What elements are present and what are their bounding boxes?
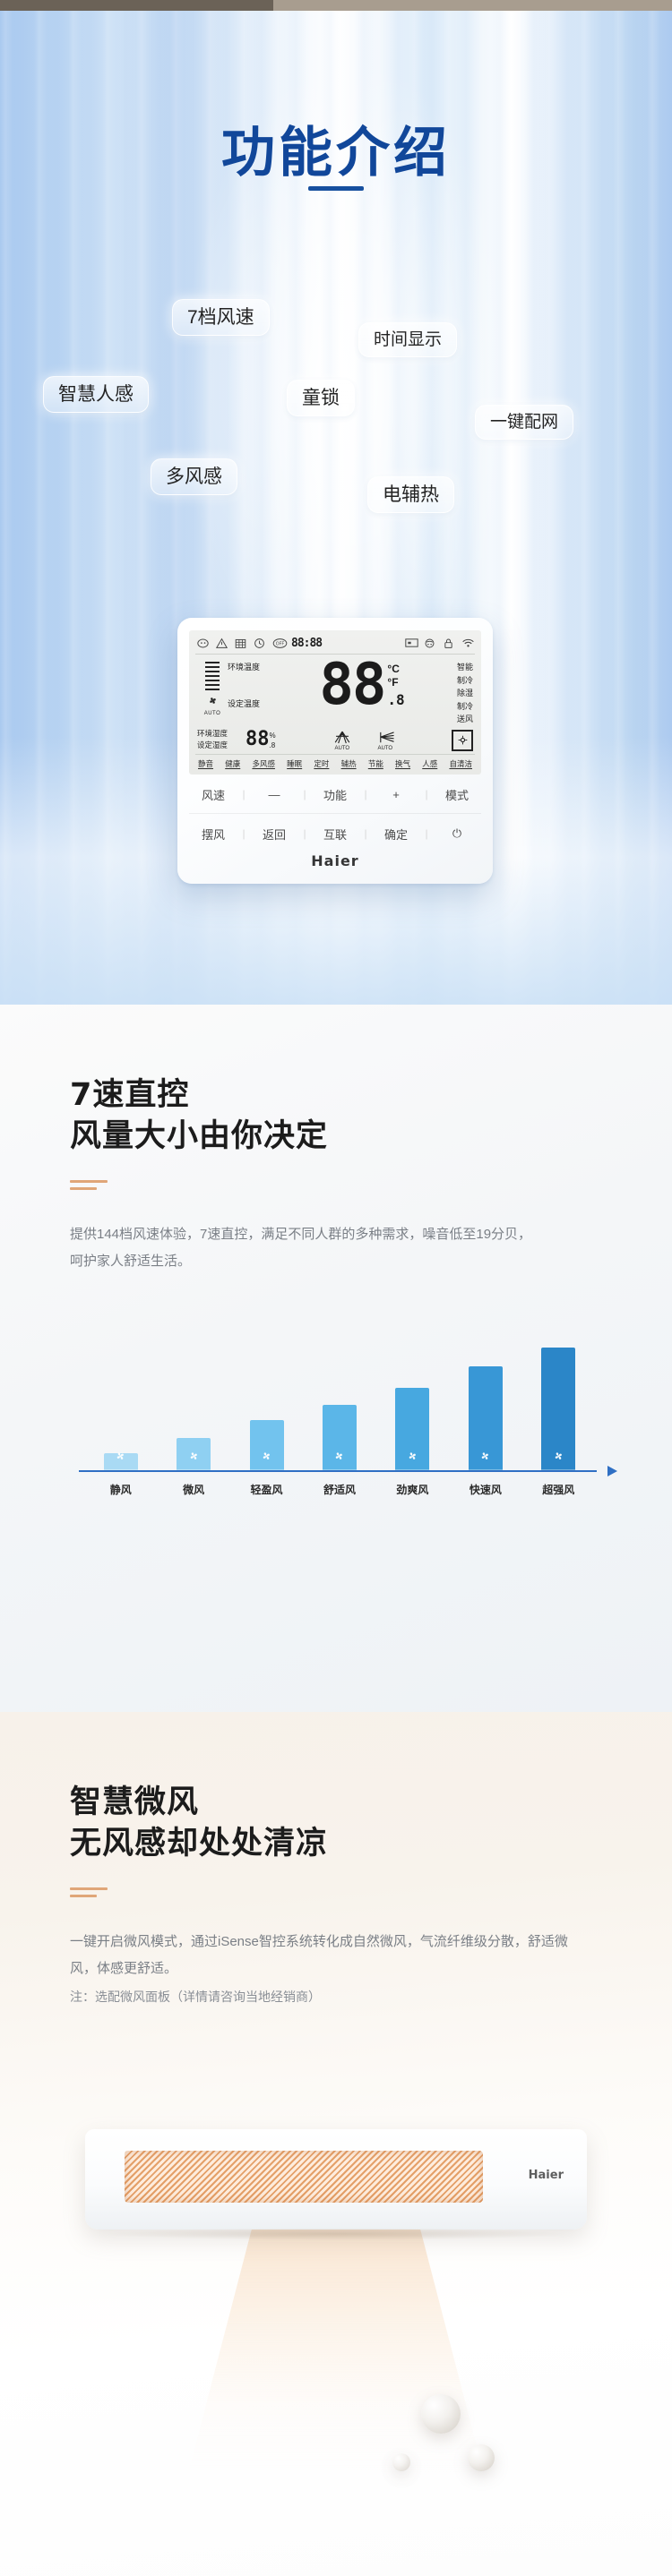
lcd-temperature-readout: 88 °C °F .8 [287,659,437,726]
humidity-value: 88 [246,728,270,750]
mode-item: 送风 [437,713,473,726]
set-temp-label: 设定温度 [228,697,287,709]
feature-tag[interactable]: 电辅热 [367,476,454,513]
temperature-value: 88 [319,659,384,712]
button-fan-speed[interactable]: 风速 [198,786,228,803]
divider: | [425,788,427,800]
lcd-function-label: 定时 [314,758,329,769]
horizontal-swing-icon: AUTO [374,730,397,751]
divider: | [364,788,366,800]
chart-bar [104,1453,138,1470]
temperature-decimal: .8 [387,691,404,709]
title-underline [308,186,364,191]
section2-title-line1: 7速直控 [70,1077,189,1113]
chart-bars [84,1336,595,1470]
chart-bar-column [449,1366,521,1470]
fan-icon [552,1450,565,1466]
chart-bar-column [157,1438,229,1470]
button-mode[interactable]: 模式 [442,786,472,803]
brand-logo: Haier [189,852,481,873]
chart-bar [177,1438,211,1470]
accent-line [70,1180,108,1183]
thermostat-device: OFF 88:88 [177,618,493,884]
fan-bar [205,662,220,663]
fan-icon [332,1450,346,1466]
horizontal-swing-auto: AUTO [378,746,393,751]
divider: | [242,827,245,840]
vertical-swing-icon: AUTO [331,730,354,751]
fan-speed-section: 7速直控 风量大小由你决定 提供144档风速体验，7速直控，满足不同人群的多种需… [0,1005,672,1712]
humidity-decimal: .8 [270,740,276,750]
lcd-mode-list: 智能 制冷 除湿 制冷 送风 [437,659,473,726]
card-icon [405,638,417,649]
section2-title: 7速直控 风量大小由你决定 [70,1074,672,1157]
hero-section: 功能介绍 7档风速时间显示智慧人感童锁一键配网多风感电辅热 [0,11,672,1005]
fan-bar [205,689,220,690]
product-detail-page: 功能介绍 7档风速时间显示智慧人感童锁一键配网多风感电辅热 [0,0,672,2576]
breeze-section: 智慧微风 无风感却处处清凉 一键开启微风模式，通过iSense智控系统转化成自然… [0,1712,672,2576]
ambient-temp-label: 环境温度 [228,661,287,672]
fan-auto-label: AUTO [204,711,221,716]
mode-item: 制冷 [437,700,473,714]
chart-bar-column [230,1420,303,1470]
chart-bar-column [303,1405,375,1470]
temperature-units: °C °F .8 [384,659,404,709]
fan-icon [478,1450,492,1466]
fan-bar [205,675,220,677]
button-function[interactable]: 功能 [320,786,350,803]
mode-item: 智能 [437,661,473,674]
chart-axis-arrow [607,1466,617,1476]
chart-bar-column [522,1348,595,1470]
fan-icon [114,1450,127,1466]
lcd-function-label: 换气 [395,758,410,769]
indoor-unit-illustration: Haier [0,2059,672,2525]
alert-icon [216,638,228,649]
button-plus[interactable]: + [381,788,411,801]
lcd-function-label: 睡眠 [287,758,302,769]
fan-speed-bar-chart: 静风微风轻盈风舒适风劲爽风快速风超强风 [79,1334,616,1504]
fan-icon [207,695,219,708]
svg-text:OFF: OFF [276,642,285,647]
button-confirm[interactable]: 确定 [381,826,411,843]
feature-tag[interactable]: 智慧人感 [43,376,149,413]
section3-title: 智慧微风 无风感却处处清凉 [70,1782,672,1864]
device-button-row-1: 风速 | — | 功能 | + | 模式 [189,775,481,813]
section3-heading: 智慧微风 无风感却处处清凉 [0,1712,672,1864]
device-button-row-2: 摆风 | 返回 | 互联 | 确定 | ⏻ [189,813,481,852]
section3-title-line2: 无风感却处处清凉 [70,1826,328,1861]
mode-item: 制冷 [437,674,473,688]
lcd-function-label: 节能 [368,758,383,769]
chart-bar [323,1405,357,1470]
fan-bar [205,666,220,668]
chart-x-label: 微风 [157,1482,229,1497]
chart-x-label: 劲爽风 [376,1482,449,1497]
lcd-function-label: 健康 [225,758,240,769]
ac-indoor-unit: Haier [85,2129,587,2229]
accent-line-short [70,1895,97,1897]
ac-unit-brand: Haier [529,2169,564,2182]
accent-line-short [70,1187,97,1190]
divider: | [303,788,306,800]
chart-x-label: 静风 [84,1482,157,1497]
fan-icon [406,1450,419,1466]
swing-icon [424,638,435,649]
fan-bar [205,680,220,681]
chart-axis [79,1470,597,1472]
fan-level-indicator: AUTO [197,659,228,726]
fan-bar [205,671,220,672]
chart-bar [541,1348,575,1470]
divider: | [425,827,427,840]
unit-celsius: °C [387,663,399,676]
lcd-function-label: 辅热 [341,758,357,769]
status-strip-light [273,0,672,11]
chart-x-label: 超强风 [522,1482,595,1497]
device-body: OFF 88:88 [177,618,493,884]
chart-bar [395,1388,429,1470]
button-swing[interactable]: 摆风 [198,826,228,843]
humidity-units: % .8 [270,731,276,750]
chart-bar [469,1366,503,1470]
page-title: 功能介绍 [0,109,672,187]
status-strip-dark [0,0,273,11]
chart-bar [250,1420,284,1470]
wifi-icon [461,638,473,649]
lcd-left-labels: 环境温度 设定温度 [228,659,287,726]
off-icon: OFF [272,638,284,649]
feature-tag[interactable]: 多风感 [151,458,237,495]
button-connect[interactable]: 互联 [320,826,350,843]
lcd-function-label: 自清洁 [449,758,472,769]
feature-tag[interactable]: 童锁 [287,380,355,416]
feature-tag[interactable]: 时间显示 [358,322,457,357]
ac-unit-shadow [103,2228,569,2240]
swing-indicators: AUTO AUTO [276,730,452,751]
button-minus[interactable]: — [259,788,289,801]
lcd-function-label: 人感 [422,758,437,769]
divider: | [242,788,245,800]
calendar-icon [235,638,246,649]
humidity-readout: 88 % .8 [246,728,276,750]
timer-icon [254,638,265,649]
button-back[interactable]: 返回 [259,826,289,843]
fan-icon [260,1450,273,1466]
mode-item: 除湿 [437,687,473,700]
chart-bar-column [376,1388,449,1470]
humidity-percent: % [270,731,276,740]
lcd-function-label: 静音 [198,758,213,769]
self-clean-icon [452,730,473,751]
accent-line [70,1887,108,1890]
feature-tag[interactable]: 一键配网 [475,405,573,440]
lcd-function-list: 静音健康多风感睡眠定时辅热节能换气人感自清洁 [195,754,475,771]
section2-title-line2: 风量大小由你决定 [70,1118,328,1154]
lcd-main-area: AUTO 环境温度 设定温度 88 °C °F .8 [195,655,475,728]
chart-x-label: 快速风 [449,1482,521,1497]
fan-icon [187,1450,201,1466]
divider: | [303,827,306,840]
unit-fahrenheit: °F [387,676,398,689]
lcd-clock: 88:88 [291,637,322,650]
lock-icon [443,638,454,649]
divider: | [364,827,366,840]
section2-description: 提供144档风速体验，7速直控，满足不同人群的多种需求，噪音低至19分贝，呵护家… [70,1221,536,1275]
lcd-screen: OFF 88:88 [189,630,481,775]
feature-tag[interactable]: 7档风速 [172,299,270,336]
chart-x-label: 舒适风 [303,1482,375,1497]
top-status-strip [0,0,672,11]
section3-title-line1: 智慧微风 [70,1784,199,1820]
section3-note: 注：选配微风面板（详情请咨询当地经销商） [70,1984,672,2009]
decorative-sphere [468,2444,495,2471]
section2-heading: 7速直控 风量大小由你决定 [0,1005,672,1157]
child-lock-icon [197,638,209,649]
lcd-function-label: 多风感 [252,758,275,769]
lcd-humidity-area: 环境湿度 设定湿度 88 % .8 [195,728,475,754]
vertical-swing-auto: AUTO [335,746,350,751]
fan-bar [205,684,220,686]
ac-vent-panel [125,2151,483,2203]
chart-x-labels: 静风微风轻盈风舒适风劲爽风快速风超强风 [84,1482,595,1497]
chart-bar-column [84,1453,157,1470]
power-icon[interactable]: ⏻ [442,826,472,841]
chart-x-label: 轻盈风 [230,1482,303,1497]
section3-description: 一键开启微风模式，通过iSense智控系统转化成自然微风，气流纤维级分散，舒适微… [70,1929,572,1982]
